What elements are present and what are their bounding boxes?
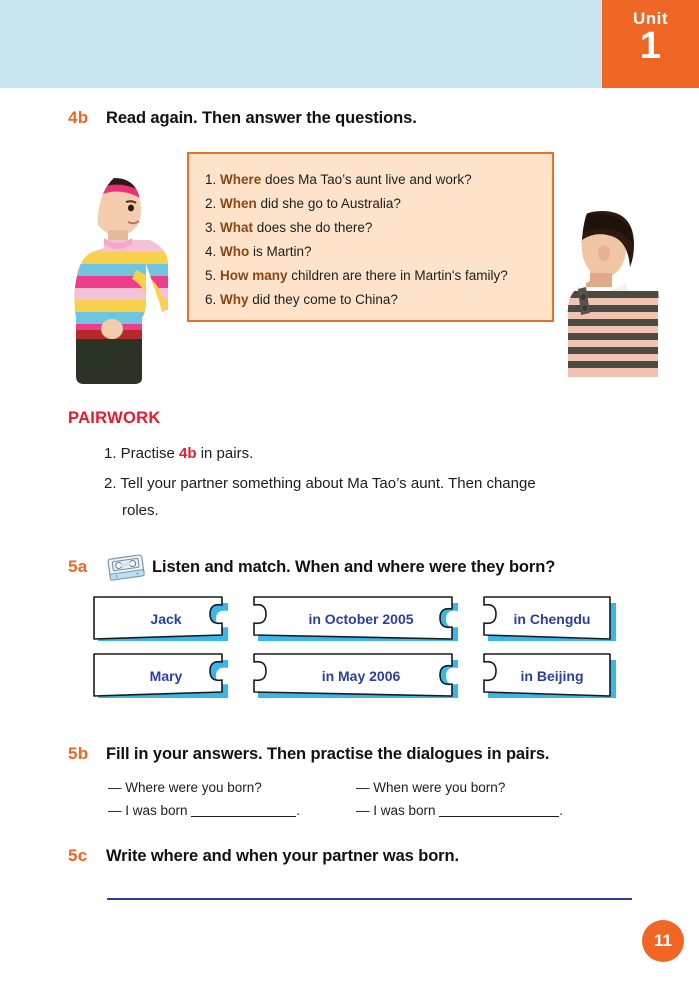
task-title-5a: Listen and match. When and where were th… — [152, 558, 555, 577]
pairwork-item-1-post: in pairs. — [197, 445, 254, 462]
answer-blank-2[interactable] — [439, 816, 559, 817]
question-keyword: Where — [220, 172, 261, 187]
question-item: 4. Who is Martin? — [205, 240, 540, 264]
question-item: 1. Where does Ma Tao’s aunt live and wor… — [205, 168, 540, 192]
task-heading-5b: 5b Fill in your answers. Then practise t… — [68, 744, 549, 764]
puzzle-piece-date[interactable]: in May 2006 — [252, 650, 470, 702]
task-number-4b: 4b — [68, 108, 106, 128]
unit-number: 1 — [640, 28, 661, 64]
task-title-5c: Write where and when your partner was bo… — [106, 847, 459, 866]
boy-photo — [548, 205, 660, 377]
question-text: does Ma Tao’s aunt live and work? — [261, 172, 471, 187]
question-item: 3. What does she do there? — [205, 216, 540, 240]
dialogue-answer-2-post: . — [559, 803, 563, 818]
puzzle-piece-name[interactable]: Jack — [92, 593, 240, 645]
question-item: 2. When did she go to Australia? — [205, 192, 540, 216]
question-index: 2. — [205, 196, 216, 211]
answer-blank-1[interactable] — [191, 816, 296, 817]
dialogue-answer-1-post: . — [296, 803, 300, 818]
task-number-5c: 5c — [68, 846, 106, 866]
pairwork-item-1-pre: 1. Practise — [104, 445, 179, 462]
puzzle-piece-place[interactable]: in Chengdu — [482, 593, 622, 645]
question-index: 4. — [205, 244, 216, 259]
question-text: is Martin? — [249, 244, 311, 259]
puzzle-row: Mary in May 2006 in Beijing — [92, 650, 622, 702]
question-index: 3. — [205, 220, 216, 235]
question-box-4b: 1. Where does Ma Tao’s aunt live and wor… — [187, 152, 554, 322]
question-index: 6. — [205, 292, 216, 307]
pairwork-item-1-ref: 4b — [179, 445, 197, 462]
question-index: 1. — [205, 172, 216, 187]
question-text: children are there in Martin's family? — [288, 268, 508, 283]
question-keyword: What — [220, 220, 253, 235]
task-title-5b: Fill in your answers. Then practise the … — [106, 745, 549, 764]
pairwork-item-2-line2: roles. — [122, 500, 159, 521]
question-keyword: Who — [220, 244, 249, 259]
header-band — [0, 0, 699, 88]
question-index: 5. — [205, 268, 216, 283]
dialogue-question-2: — When were you born? — [356, 780, 505, 795]
question-keyword: Why — [220, 292, 249, 307]
dialogue-answer-2[interactable]: — I was born . — [356, 803, 563, 818]
dialogue-answer-1[interactable]: — I was born . — [108, 803, 300, 818]
task-heading-4b: 4b Read again. Then answer the questions… — [68, 108, 417, 128]
unit-badge: Unit 1 — [602, 0, 699, 88]
task-number-5b: 5b — [68, 744, 106, 764]
question-keyword: When — [220, 196, 257, 211]
question-text: does she do there? — [253, 220, 372, 235]
puzzle-piece-place[interactable]: in Beijing — [482, 650, 622, 702]
question-item: 5. How many children are there in Martin… — [205, 264, 540, 288]
task-heading-5a: 5a Listen and match. When and where were… — [68, 553, 555, 581]
question-keyword: How many — [220, 268, 288, 283]
pairwork-item-1: 1. Practise 4b in pairs. — [104, 443, 253, 464]
task-heading-5c: 5c Write where and when your partner was… — [68, 846, 459, 866]
dialogue-answer-1-pre: — I was born — [108, 803, 191, 818]
pairwork-title: PAIRWORK — [68, 409, 161, 428]
puzzle-row: Jack in October 2005 in Chengdu — [92, 593, 622, 645]
pairwork-item-2-line1: 2. Tell your partner something about Ma … — [104, 473, 536, 494]
answer-write-line[interactable] — [107, 898, 632, 900]
task-title-4b: Read again. Then answer the questions. — [106, 109, 417, 128]
puzzle-piece-date[interactable]: in October 2005 — [252, 593, 470, 645]
puzzle-piece-name[interactable]: Mary — [92, 650, 240, 702]
question-item: 6. Why did they come to China? — [205, 288, 540, 312]
page-number: 11 — [642, 920, 684, 962]
question-text: did she go to Australia? — [257, 196, 401, 211]
cassette-icon — [106, 553, 146, 581]
task-number-5a: 5a — [68, 557, 106, 577]
dialogue-question-1: — Where were you born? — [108, 780, 262, 795]
question-text: did they come to China? — [249, 292, 398, 307]
dialogue-answer-2-pre: — I was born — [356, 803, 439, 818]
puzzle-matching-area: Jack in October 2005 in Chengdu Mary — [92, 593, 622, 708]
girl-photo — [52, 174, 178, 389]
